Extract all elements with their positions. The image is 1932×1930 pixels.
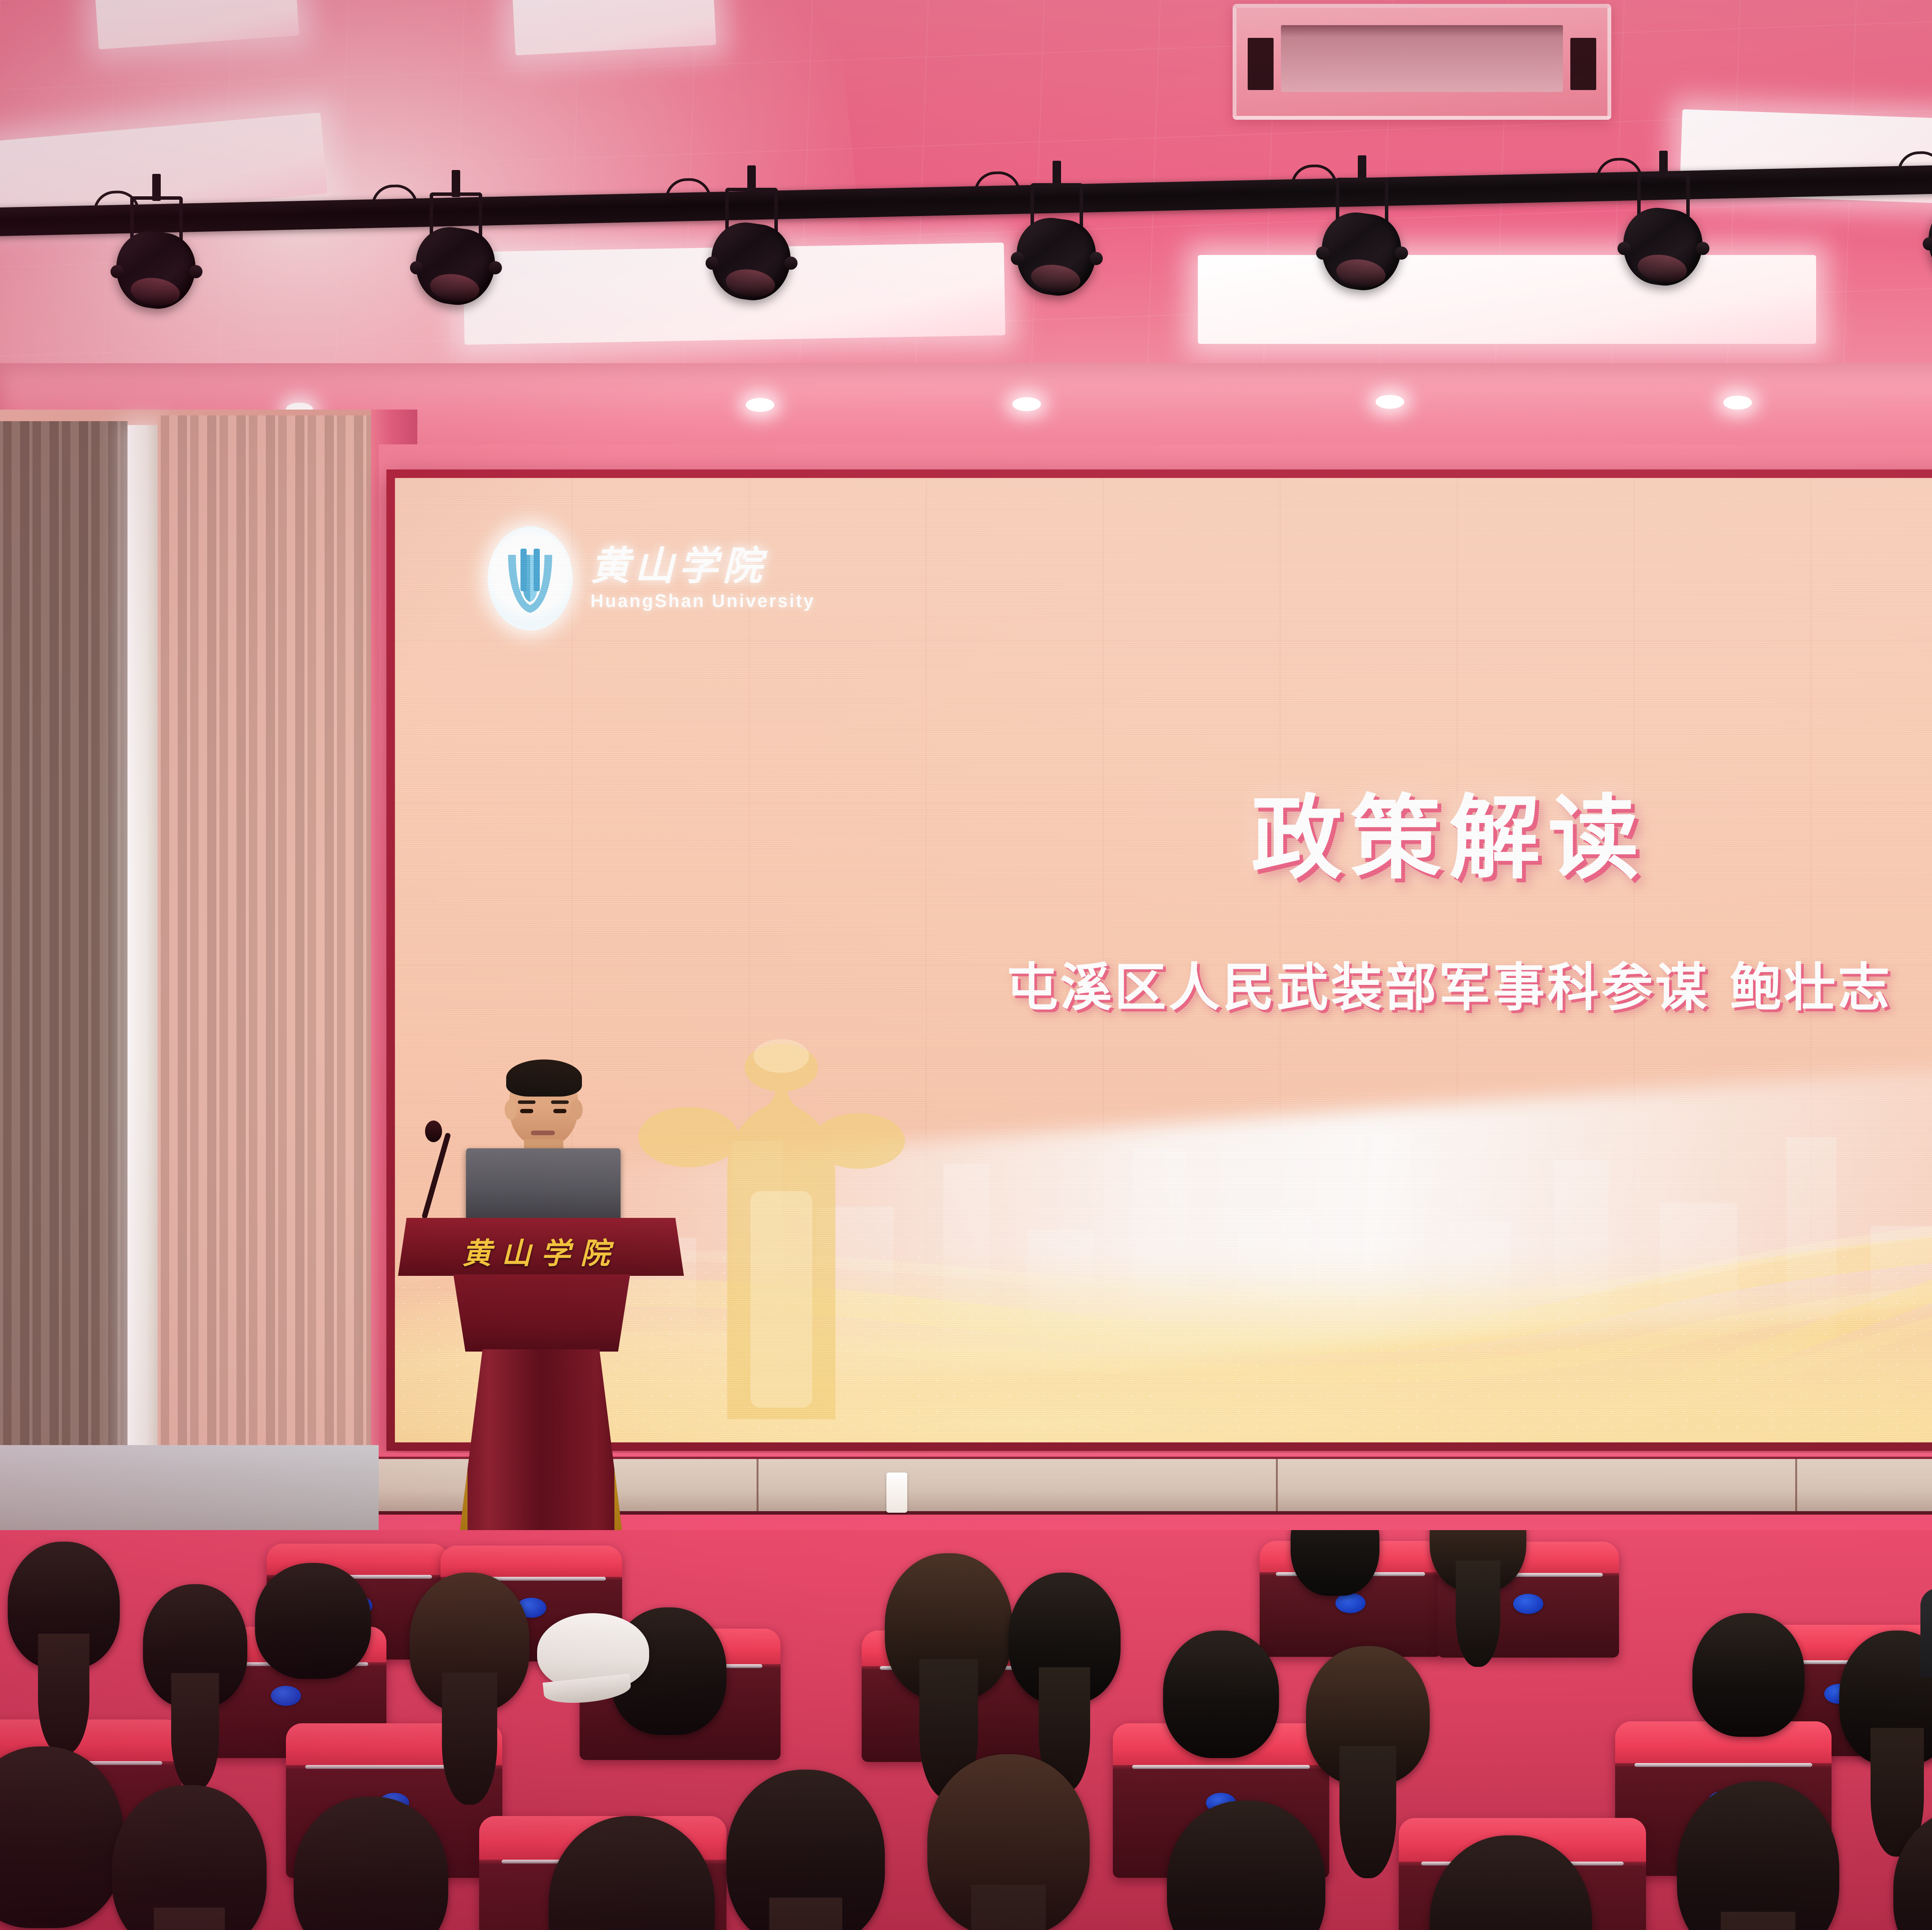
recessed-downlight: [1012, 397, 1041, 411]
ceiling-ac-unit: [1233, 4, 1611, 120]
university-logo: 黄山学院 HuangShan University: [488, 526, 815, 631]
par-stage-light[interactable]: [1321, 213, 1403, 291]
podium-gold-edge: [460, 1349, 468, 1531]
audience-shoulder: [1920, 1588, 1932, 1677]
par-stage-light[interactable]: [711, 223, 792, 301]
university-name-en: HuangShan University: [590, 590, 815, 611]
par-stage-light[interactable]: [116, 232, 197, 309]
par-stage-light[interactable]: [1928, 204, 1932, 281]
wall-switch[interactable]: [886, 1473, 907, 1513]
light-tilt-knob: [706, 257, 719, 270]
podium-area: 黄山学院: [398, 1063, 684, 1557]
wainscot-seam: [757, 1459, 759, 1511]
recessed-downlight: [746, 398, 774, 412]
seat-number-badge: ·: [1335, 1593, 1366, 1613]
speaker-eye: [553, 1109, 566, 1113]
university-logo-wordmark: 黄山学院 HuangShan University: [590, 546, 815, 611]
wainscot-seam: [1276, 1459, 1278, 1511]
ceiling-light-panel: [1198, 255, 1816, 344]
podium-plaque: 黄山学院: [398, 1229, 684, 1272]
light-tilt-knob: [1090, 252, 1103, 265]
speaker-eye: [520, 1109, 533, 1113]
speaker-eyebrow: [551, 1100, 569, 1104]
audience-head: [143, 1584, 247, 1708]
light-tilt-knob: [1395, 247, 1408, 260]
light-tilt-knob: [1011, 252, 1024, 265]
slide-title: 政策解读: [395, 764, 1932, 896]
audience-seating: 09 · · · · · 18: [0, 1530, 1932, 1930]
slide-subtitle: 屯溪区人民武装部军事科参谋 鲍壮志: [395, 945, 1932, 1020]
podium-body: [441, 1274, 642, 1352]
soldier-silhouettes-with-flag-icon: [1885, 983, 1932, 1400]
recessed-downlight: [1376, 395, 1404, 409]
speaker-ear: [570, 1100, 583, 1120]
microphone-head-icon: [425, 1121, 442, 1142]
par-stage-light[interactable]: [1016, 219, 1097, 296]
light-tilt-knob: [1696, 242, 1709, 255]
audience-head: [255, 1563, 371, 1679]
laptop-icon[interactable]: [466, 1148, 621, 1226]
auditorium-photo: 黄山学院 HuangShan University 政策解读 屯溪区人民武装部军: [0, 0, 1932, 1930]
seat-number-badge: ·: [1513, 1594, 1543, 1614]
audience-head: [1009, 1573, 1121, 1704]
curtain-left: [0, 421, 128, 1488]
seat-headrest: [440, 1546, 622, 1577]
ac-vent-slot: [1248, 38, 1274, 90]
light-tilt-knob: [784, 257, 798, 270]
recessed-downlight: [1723, 396, 1752, 410]
curtain-left-lit: [158, 415, 393, 1493]
par-stage-light[interactable]: [1623, 209, 1704, 286]
wainscot-seam: [1795, 1459, 1797, 1511]
seat-chrome-trim: [1132, 1765, 1310, 1769]
ac-vent-slot: [1570, 38, 1596, 90]
white-baseball-cap: [537, 1613, 649, 1690]
audience-head: [8, 1542, 120, 1669]
podium-gold-edge: [614, 1349, 622, 1531]
light-tilt-knob: [189, 265, 202, 278]
light-tilt-knob: [489, 261, 502, 274]
speaker-eyebrow: [518, 1100, 536, 1104]
huangshan-mountain-emblem-icon: [488, 526, 573, 631]
light-tilt-knob: [410, 261, 423, 274]
audience-head: [410, 1573, 529, 1712]
light-tilt-knob: [111, 265, 124, 278]
audience-head: [885, 1553, 1012, 1700]
seat-chrome-trim: [1634, 1763, 1812, 1767]
light-tilt-knob: [1316, 247, 1329, 260]
speaker-ear: [505, 1100, 517, 1120]
podium-stem: [460, 1349, 622, 1531]
ac-grille: [1281, 25, 1563, 92]
seat-number-badge: ·: [271, 1686, 301, 1706]
audience-head: [1692, 1613, 1804, 1737]
light-tilt-knob: [1617, 242, 1631, 255]
audience-head: [927, 1754, 1090, 1930]
audience-head: [1163, 1631, 1279, 1758]
audience-head: [726, 1770, 885, 1930]
university-name-cn: 黄山学院: [590, 546, 815, 587]
par-stage-light[interactable]: [415, 228, 497, 305]
microphone-icon: [422, 1132, 451, 1219]
audience-head: [1306, 1646, 1430, 1785]
window-light-gap-left: [128, 425, 158, 1472]
audience-head: [112, 1785, 267, 1930]
speaker-mouth: [531, 1131, 555, 1135]
speaker-hair: [506, 1059, 582, 1097]
